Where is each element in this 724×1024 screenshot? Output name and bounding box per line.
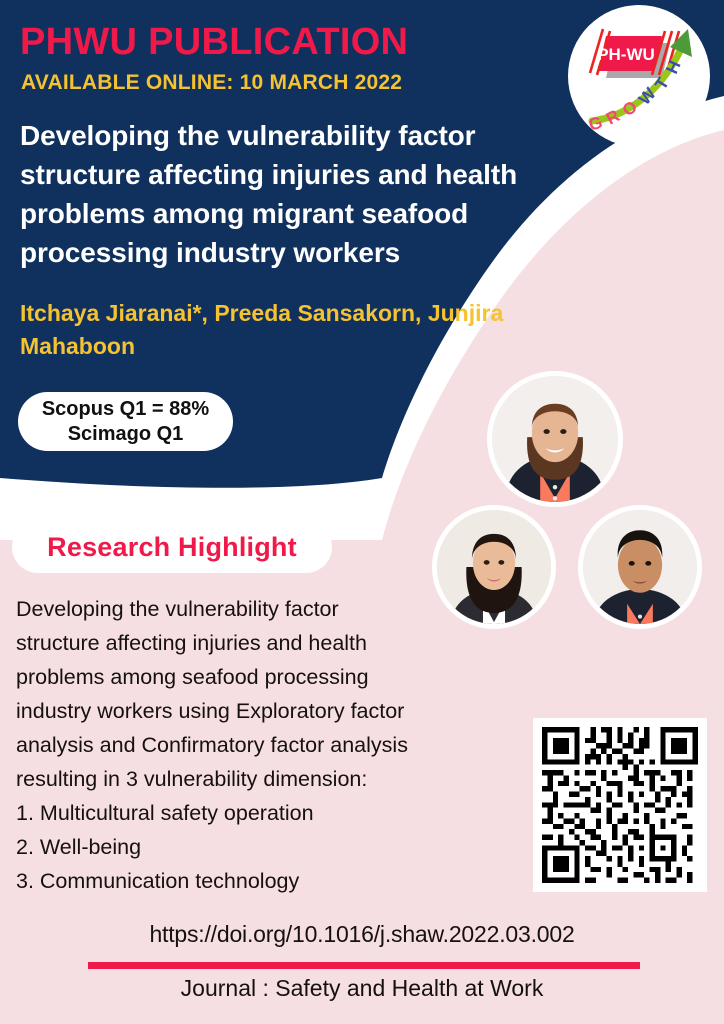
publication-poster: PHWU PUBLICATION AVAILABLE ONLINE: 10 MA…	[0, 0, 724, 1024]
highlight-line: Developing the vulnerability factor	[16, 592, 508, 626]
qr-code[interactable]	[533, 718, 707, 892]
qr-code-matrix	[542, 727, 698, 883]
list-item: 1. Multicultural safety operation	[16, 796, 508, 830]
publication-kicker: PHWU PUBLICATION	[20, 20, 540, 64]
phwu-growth-logo: G R O W T H PH-WU	[566, 3, 712, 149]
logo-badge-text: PH-WU	[597, 45, 655, 64]
highlight-line: industry workers using Exploratory facto…	[16, 694, 508, 728]
doi-link[interactable]: https://doi.org/10.1016/j.shaw.2022.03.0…	[0, 921, 724, 948]
metrics-badge: Scopus Q1 = 88% Scimago Q1	[18, 392, 233, 451]
page-title: Developing the vulnerability factor stru…	[20, 116, 580, 272]
author-photo-1	[487, 371, 623, 507]
highlight-line: problems among seafood processing	[16, 660, 508, 694]
author-photo-2	[432, 505, 556, 629]
list-item: 2. Well-being	[16, 830, 508, 864]
journal-name: Journal : Safety and Health at Work	[0, 975, 724, 1002]
research-highlight-label: Research Highlight	[47, 532, 297, 563]
footer-divider	[88, 962, 640, 969]
scimago-quartile: Scimago Q1	[68, 422, 184, 447]
dimension-list: 1. Multicultural safety operation 2. Wel…	[16, 796, 508, 898]
photo3-face	[618, 538, 662, 593]
availability-date: AVAILABLE ONLINE: 10 MARCH 2022	[21, 71, 541, 95]
research-highlight-pill: Research Highlight	[12, 521, 332, 573]
highlight-line: analysis and Confirmatory factor analysi…	[16, 728, 508, 762]
highlight-body: Developing the vulnerability factor stru…	[16, 592, 508, 898]
highlight-line: resulting in 3 vulnerability dimension:	[16, 762, 508, 796]
highlight-line: structure affecting injuries and health	[16, 626, 508, 660]
author-list: Itchaya Jiaranai*, Preeda Sansakorn, Jun…	[20, 297, 540, 363]
scopus-quartile: Scopus Q1 = 88%	[42, 397, 209, 422]
list-item: 3. Communication technology	[16, 864, 508, 898]
author-photo-3	[578, 505, 702, 629]
